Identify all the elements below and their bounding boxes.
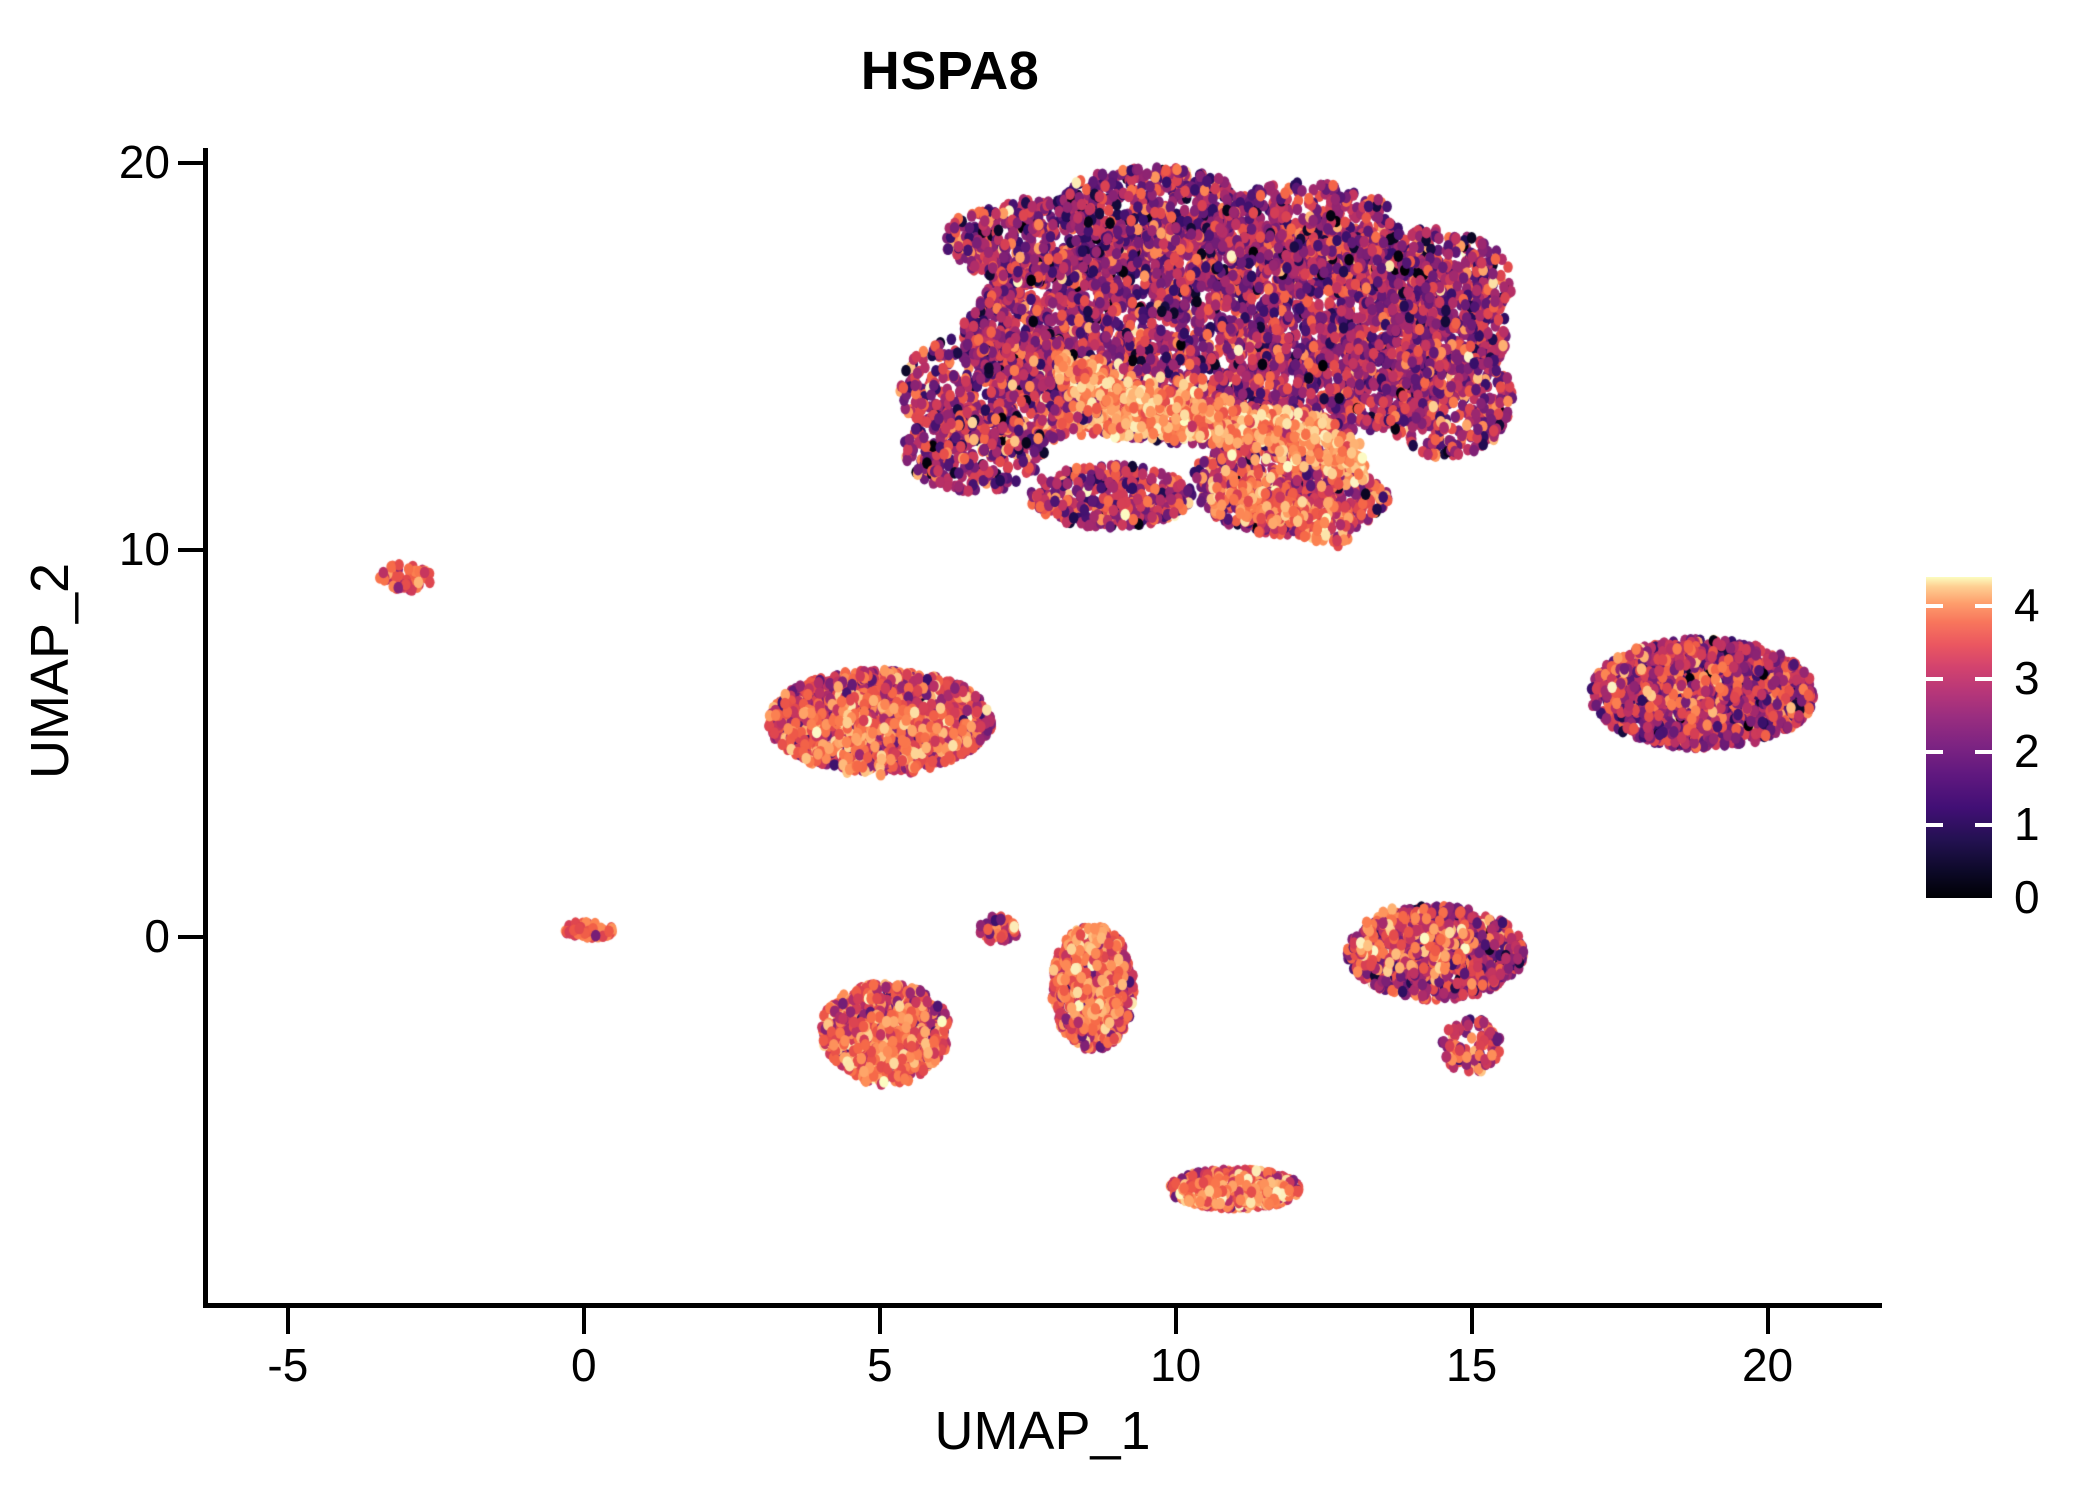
colorbar-tick-right [1975, 677, 1992, 681]
colorbar-tick-label: 4 [2014, 582, 2040, 628]
colorbar-tick-right [1975, 750, 1992, 754]
x-tick-label: -5 [198, 1342, 378, 1388]
colorbar-tick-label: 0 [2014, 874, 2040, 920]
colorbar-tick-left [1926, 677, 1943, 681]
x-tick-mark [1174, 1308, 1178, 1334]
x-tick-mark [286, 1308, 290, 1334]
plot-panel [205, 148, 1880, 1305]
colorbar-tick-label: 2 [2014, 728, 2040, 774]
page-title: HSPA8 [0, 40, 1900, 102]
x-tick-label: 10 [1086, 1342, 1266, 1388]
x-tick-label: 20 [1678, 1342, 1858, 1388]
colorbar-tick-left [1926, 604, 1943, 608]
x-tick-mark [1470, 1308, 1474, 1334]
colorbar-tick-right [1975, 604, 1992, 608]
y-axis-label: UMAP_2 [19, 391, 81, 951]
colorbar-gradient [1926, 577, 1992, 898]
x-tick-mark [878, 1308, 882, 1334]
umap-feature-plot: HSPA8 01020 -505101520 UMAP_2 UMAP_1 012… [0, 0, 2100, 1500]
x-axis-line [203, 1303, 1882, 1308]
colorbar-tick-left [1926, 823, 1943, 827]
x-tick-label: 5 [790, 1342, 970, 1388]
x-tick-mark [582, 1308, 586, 1334]
y-tick-mark [178, 548, 204, 552]
colorbar-legend [1926, 577, 1992, 898]
colorbar-tick-right [1975, 823, 1992, 827]
x-tick-mark [1766, 1308, 1770, 1334]
y-axis-line [203, 148, 208, 1308]
colorbar-tick-label: 1 [2014, 801, 2040, 847]
x-axis-label: UMAP_1 [205, 1400, 1880, 1462]
x-tick-label: 15 [1382, 1342, 1562, 1388]
y-tick-label: 20 [40, 139, 170, 185]
x-tick-label: 0 [494, 1342, 674, 1388]
y-tick-mark [178, 935, 204, 939]
scatter-points-canvas [205, 148, 1880, 1305]
colorbar-tick-left [1926, 750, 1943, 754]
colorbar-tick-label: 3 [2014, 655, 2040, 701]
y-tick-mark [178, 161, 204, 165]
